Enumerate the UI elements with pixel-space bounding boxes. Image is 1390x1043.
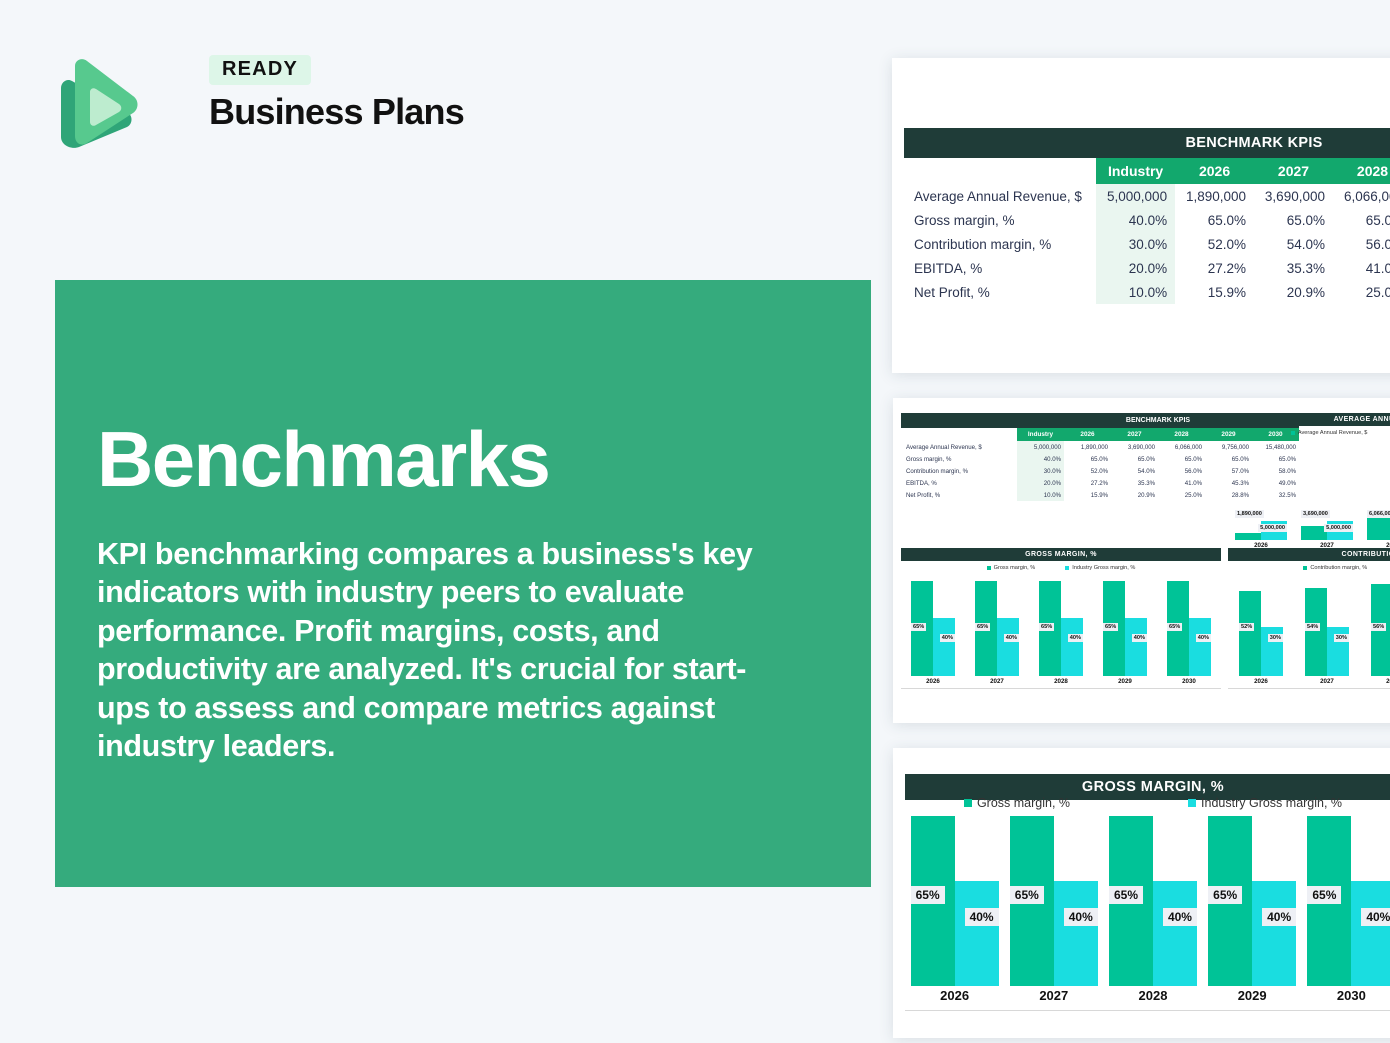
cell-value: 3,690,000 bbox=[1111, 441, 1158, 453]
row-label: Net Profit, % bbox=[904, 280, 1096, 304]
bar-value-label: 40% bbox=[940, 634, 955, 642]
legend-item-series: Gross margin, % bbox=[987, 565, 1036, 571]
cell-industry: 30.0% bbox=[1017, 465, 1064, 477]
cell-industry: 10.0% bbox=[1017, 489, 1064, 501]
table-row: Gross margin, %40.0%65.0%65.0%65.0% bbox=[904, 208, 1390, 232]
brand-name: Business Plans bbox=[209, 91, 464, 133]
legend-item-series: Average Annual Revenue, $ bbox=[1291, 430, 1368, 436]
bar-group: 65%40% bbox=[1103, 581, 1147, 676]
row-label: EBITDA, % bbox=[901, 477, 1017, 489]
cell-industry: 40.0% bbox=[1096, 208, 1175, 232]
play-triangle-logo-icon bbox=[57, 58, 139, 150]
legend-label: Average Annual Revenue, $ bbox=[1298, 430, 1368, 436]
bar-group: 65%40% bbox=[911, 816, 999, 986]
bar-series-primary: 65% bbox=[1109, 816, 1153, 986]
bar-series-industry: 5,000,000 bbox=[1327, 521, 1353, 540]
gross-margin-chart-card: GROSS MARGIN, % Gross margin, % Industry… bbox=[893, 748, 1390, 1038]
bar-series-industry: 40% bbox=[1351, 881, 1390, 986]
bar-series-industry: 40% bbox=[997, 618, 1019, 676]
bar-series-industry: 40% bbox=[1054, 881, 1098, 986]
column-header: 2026 bbox=[1175, 158, 1254, 184]
table-row: Net Profit, %10.0%15.9%20.9%25.0% bbox=[904, 280, 1390, 304]
gross-margin-chart-legend: Gross margin, % Industry Gross margin, % bbox=[905, 796, 1390, 810]
bar-value-label: 52% bbox=[1239, 623, 1254, 631]
bar-value-label: 1,890,000 bbox=[1235, 510, 1264, 518]
cell-value: 65.0% bbox=[1064, 453, 1111, 465]
bar-value-label: 40% bbox=[1163, 908, 1197, 926]
bar-series-primary: 52% bbox=[1239, 591, 1261, 676]
row-label: Contribution margin, % bbox=[904, 232, 1096, 256]
header-blank bbox=[904, 158, 1096, 184]
x-axis-label: 2027 bbox=[990, 678, 1004, 685]
x-axis-label: 2026 bbox=[1254, 678, 1268, 685]
bar-value-label: 65% bbox=[911, 623, 926, 631]
bar-value-label: 40% bbox=[1262, 908, 1296, 926]
bar-group: 65%40% bbox=[1208, 816, 1296, 986]
bar-group: 54%30% bbox=[1305, 588, 1349, 676]
legend-swatch bbox=[1291, 431, 1295, 435]
chart-title: GROSS MARGIN, % bbox=[901, 548, 1221, 561]
cell-value: 41.0% bbox=[1158, 477, 1205, 489]
cell-value: 1,890,000 bbox=[1064, 441, 1111, 453]
bar-value-label: 56% bbox=[1371, 623, 1386, 631]
legend-item-series: Industry Gross margin, % bbox=[1065, 565, 1135, 571]
bar-group: 65%40% bbox=[1307, 816, 1390, 986]
bar-group: 1,890,0005,000,000 bbox=[1235, 521, 1287, 540]
column-header: 2027 bbox=[1254, 158, 1333, 184]
cell-value: 65.0% bbox=[1175, 208, 1254, 232]
column-header: 2027 bbox=[1111, 428, 1158, 441]
bar-group: 65%40% bbox=[911, 581, 955, 676]
gross-margin-chart-mini: GROSS MARGIN, %Gross margin, %Industry G… bbox=[901, 548, 1221, 689]
cell-value: 65.0% bbox=[1254, 208, 1333, 232]
bar-group: 65%40% bbox=[1167, 581, 1211, 676]
row-label: EBITDA, % bbox=[904, 256, 1096, 280]
bar-series-primary: 6,066,000 bbox=[1367, 517, 1390, 540]
cell-value: 1,890,000 bbox=[1175, 184, 1254, 208]
brand-wordmark: READY Business Plans bbox=[209, 55, 464, 133]
x-axis-label: 2028 bbox=[1386, 678, 1390, 685]
cell-value: 52.0% bbox=[1175, 232, 1254, 256]
x-axis-label: 2030 bbox=[1337, 988, 1366, 1003]
bar-group: 56%30% bbox=[1371, 584, 1390, 676]
chart-legend: Gross margin, %Industry Gross margin, % bbox=[901, 565, 1221, 571]
bar-series-primary: 65% bbox=[911, 581, 933, 676]
bar-group: 65%40% bbox=[1010, 816, 1098, 986]
cell-value: 20.9% bbox=[1111, 489, 1158, 501]
column-header: 2028 bbox=[1333, 158, 1390, 184]
bar-series-industry: 40% bbox=[1189, 618, 1211, 676]
legend-label-gross-margin: Gross margin, % bbox=[977, 796, 1070, 810]
table-row: Average Annual Revenue, $5,000,0001,890,… bbox=[904, 184, 1390, 208]
bar-series-primary: 56% bbox=[1371, 584, 1390, 676]
legend-item-series: Gross margin, % bbox=[964, 796, 1070, 810]
contribution-margin-chart-mini: CONTRIBUTION MARGIN, %Contribution margi… bbox=[1228, 548, 1390, 689]
brand-logo: READY Business Plans bbox=[57, 55, 477, 155]
bar-series-primary: 65% bbox=[1103, 581, 1125, 676]
bar-series-primary: 65% bbox=[975, 581, 997, 676]
legend-label-industry-gross-margin: Industry Gross margin, % bbox=[1201, 796, 1342, 810]
x-axis-label: 2028 bbox=[1054, 678, 1068, 685]
bar-group: 3,690,0005,000,000 bbox=[1301, 521, 1353, 540]
chart-axis-line bbox=[901, 688, 1221, 689]
ready-badge: READY bbox=[209, 55, 311, 85]
bar-series-industry: 40% bbox=[1125, 618, 1147, 676]
bar-series-industry: 40% bbox=[1153, 881, 1197, 986]
chart-legend: Contribution margin, %Industry Contribut… bbox=[1228, 565, 1390, 571]
cell-value: 27.2% bbox=[1064, 477, 1111, 489]
x-axis-label: 2026 bbox=[926, 678, 940, 685]
legend-label: Industry Gross margin, % bbox=[1072, 565, 1135, 571]
table-title-row: BENCHMARK KPIS bbox=[904, 128, 1390, 158]
table-row: Contribution margin, %30.0%52.0%54.0%56.… bbox=[904, 232, 1390, 256]
table-title bbox=[901, 413, 1017, 428]
cell-value: 54.0% bbox=[1254, 232, 1333, 256]
bar-value-label: 30% bbox=[1334, 634, 1349, 642]
bar-series-primary: 65% bbox=[1167, 581, 1189, 676]
cell-value: 6,066,000 bbox=[1333, 184, 1390, 208]
cell-industry: 10.0% bbox=[1096, 280, 1175, 304]
row-label: Average Annual Revenue, $ bbox=[904, 184, 1096, 208]
x-axis-label: 2029 bbox=[1118, 678, 1132, 685]
bar-series-primary: 65% bbox=[1039, 581, 1061, 676]
gross-margin-x-axis-labels: 20262027202820292030 bbox=[905, 988, 1390, 1003]
bar-series-primary: 54% bbox=[1305, 588, 1327, 676]
benchmark-kpis-table-card: BENCHMARK KPISIndustry202620272028Averag… bbox=[892, 58, 1390, 373]
legend-item-series: Industry Gross margin, % bbox=[1188, 796, 1342, 810]
bar-value-label: 54% bbox=[1305, 623, 1320, 631]
bar-group: 52%30% bbox=[1239, 591, 1283, 676]
bar-value-label: 65% bbox=[1010, 886, 1044, 904]
bar-series-industry: 5,000,000 bbox=[1261, 521, 1287, 540]
chart-plot-area: 52%30%54%30%56%30%57%30%58%30% bbox=[1228, 581, 1390, 676]
column-header: 2026 bbox=[1064, 428, 1111, 441]
bar-series-industry: 40% bbox=[1252, 881, 1296, 986]
legend-swatch bbox=[1303, 566, 1307, 570]
bar-value-label: 40% bbox=[1361, 908, 1390, 926]
bar-series-primary: 1,890,000 bbox=[1235, 533, 1261, 540]
bar-value-label: 40% bbox=[1068, 634, 1083, 642]
cell-value: 52.0% bbox=[1064, 465, 1111, 477]
benchmark-kpis-table: BENCHMARK KPISIndustry202620272028Averag… bbox=[904, 128, 1390, 304]
cell-industry: 40.0% bbox=[1017, 453, 1064, 465]
cell-value: 27.2% bbox=[1175, 256, 1254, 280]
cell-industry: 30.0% bbox=[1096, 232, 1175, 256]
legend-label: Gross margin, % bbox=[994, 565, 1036, 571]
cell-value: 35.3% bbox=[1254, 256, 1333, 280]
cell-value: 15.9% bbox=[1064, 489, 1111, 501]
bar-value-label: 65% bbox=[975, 623, 990, 631]
table-header-row: Industry202620272028 bbox=[904, 158, 1390, 184]
cell-value: 56.0% bbox=[1158, 465, 1205, 477]
chart-legend: Average Annual Revenue, $Industry Averag… bbox=[1228, 430, 1390, 436]
x-axis-label: 2027 bbox=[1039, 988, 1068, 1003]
legend-item-series: Contribution margin, % bbox=[1303, 565, 1367, 571]
legend-swatch-industry-gross-margin bbox=[1188, 799, 1196, 807]
cell-value: 54.0% bbox=[1111, 465, 1158, 477]
benchmark-dashboard-card: BENCHMARK KPISIndustry202620272028202920… bbox=[893, 398, 1390, 723]
column-header: Industry bbox=[1096, 158, 1175, 184]
cell-value: 3,690,000 bbox=[1254, 184, 1333, 208]
bar-group: 65%40% bbox=[975, 581, 1019, 676]
legend-swatch bbox=[1065, 566, 1069, 570]
cell-value: 65.0% bbox=[1158, 453, 1205, 465]
table-title bbox=[904, 128, 1096, 158]
bar-series-primary: 65% bbox=[1307, 816, 1351, 986]
cell-value: 35.3% bbox=[1111, 477, 1158, 489]
chart-title: CONTRIBUTION MARGIN, % bbox=[1228, 548, 1390, 561]
bar-value-label: 65% bbox=[1208, 886, 1242, 904]
bar-value-label: 40% bbox=[1132, 634, 1147, 642]
legend-swatch-gross-margin bbox=[964, 799, 972, 807]
hero-panel: Benchmarks KPI benchmarking compares a b… bbox=[55, 280, 871, 887]
bar-value-label: 65% bbox=[1109, 886, 1143, 904]
cell-industry: 20.0% bbox=[1017, 477, 1064, 489]
legend-label: Contribution margin, % bbox=[1310, 565, 1367, 571]
bar-series-primary: 65% bbox=[911, 816, 955, 986]
bar-series-industry: 40% bbox=[933, 618, 955, 676]
cell-value: 56.0% bbox=[1333, 232, 1390, 256]
column-header: 2028 bbox=[1158, 428, 1205, 441]
cell-value: 41.0% bbox=[1333, 256, 1390, 280]
row-label: Average Annual Revenue, $ bbox=[901, 441, 1017, 453]
bar-series-primary: 65% bbox=[1010, 816, 1054, 986]
bar-group: 6,066,0005,000,000 bbox=[1367, 517, 1390, 540]
column-header: Industry bbox=[1017, 428, 1064, 441]
hero-description: KPI benchmarking compares a business's k… bbox=[97, 535, 767, 766]
row-label: Net Profit, % bbox=[901, 489, 1017, 501]
gross-margin-axis-line bbox=[905, 1010, 1390, 1011]
row-label: Gross margin, % bbox=[904, 208, 1096, 232]
bar-group: 65%40% bbox=[1109, 816, 1197, 986]
chart-title: AVERAGE ANNUAL REVENUE, $ bbox=[1228, 413, 1390, 426]
x-axis-label: 2027 bbox=[1320, 678, 1334, 685]
bar-value-label: 65% bbox=[1039, 623, 1054, 631]
chart-axis-line bbox=[1228, 688, 1390, 689]
average-annual-revenue-chart: AVERAGE ANNUAL REVENUE, $Average Annual … bbox=[1228, 413, 1390, 553]
cell-value: 65.0% bbox=[1333, 208, 1390, 232]
bar-group: 65%40% bbox=[1039, 581, 1083, 676]
bar-series-primary: 3,690,000 bbox=[1301, 526, 1327, 540]
bar-value-label: 40% bbox=[1196, 634, 1211, 642]
chart-plot-area: 65%40%65%40%65%40%65%40%65%40% bbox=[901, 581, 1221, 676]
bar-value-label: 65% bbox=[1307, 886, 1341, 904]
x-axis-label: 2026 bbox=[940, 988, 969, 1003]
x-axis-label: 2029 bbox=[1238, 988, 1267, 1003]
header-blank bbox=[901, 428, 1017, 441]
cell-value: 65.0% bbox=[1111, 453, 1158, 465]
row-label: Gross margin, % bbox=[901, 453, 1017, 465]
bar-value-label: 3,690,000 bbox=[1301, 510, 1330, 518]
page-title: Benchmarks bbox=[97, 420, 549, 498]
bar-series-industry: 30% bbox=[1327, 627, 1349, 676]
bar-value-label: 65% bbox=[1167, 623, 1182, 631]
cell-industry: 5,000,000 bbox=[1096, 184, 1175, 208]
x-axis-label: 2028 bbox=[1139, 988, 1168, 1003]
legend-swatch bbox=[987, 566, 991, 570]
cell-value: 25.0% bbox=[1333, 280, 1390, 304]
bar-value-label: 65% bbox=[1103, 623, 1118, 631]
x-axis-label: 2030 bbox=[1182, 678, 1196, 685]
bar-series-industry: 30% bbox=[1261, 627, 1283, 676]
row-label: Contribution margin, % bbox=[901, 465, 1017, 477]
chart-x-axis-labels: 20262027202820292030 bbox=[1228, 678, 1390, 685]
cell-industry: 5,000,000 bbox=[1017, 441, 1064, 453]
bar-value-label: 40% bbox=[1004, 634, 1019, 642]
bar-value-label: 5,000,000 bbox=[1258, 524, 1287, 532]
bar-value-label: 40% bbox=[1064, 908, 1098, 926]
bar-value-label: 40% bbox=[965, 908, 999, 926]
cell-value: 25.0% bbox=[1158, 489, 1205, 501]
bar-value-label: 65% bbox=[911, 886, 945, 904]
cell-value: 20.9% bbox=[1254, 280, 1333, 304]
gross-margin-plot-area: 65%40%65%40%65%40%65%40%65%40% bbox=[905, 816, 1390, 986]
bar-value-label: 30% bbox=[1268, 634, 1283, 642]
chart-plot-area: 1,890,0005,000,0003,690,0005,000,0006,06… bbox=[1228, 482, 1390, 540]
bar-value-label: 6,066,000 bbox=[1367, 510, 1390, 518]
table-row: EBITDA, %20.0%27.2%35.3%41.0% bbox=[904, 256, 1390, 280]
cell-value: 6,066,000 bbox=[1158, 441, 1205, 453]
table-title: BENCHMARK KPIS bbox=[1096, 128, 1390, 158]
bar-value-label: 5,000,000 bbox=[1324, 524, 1353, 532]
cell-value: 15.9% bbox=[1175, 280, 1254, 304]
bar-series-primary: 65% bbox=[1208, 816, 1252, 986]
chart-x-axis-labels: 20262027202820292030 bbox=[901, 678, 1221, 685]
bar-series-industry: 40% bbox=[955, 881, 999, 986]
bar-series-industry: 40% bbox=[1061, 618, 1083, 676]
cell-industry: 20.0% bbox=[1096, 256, 1175, 280]
